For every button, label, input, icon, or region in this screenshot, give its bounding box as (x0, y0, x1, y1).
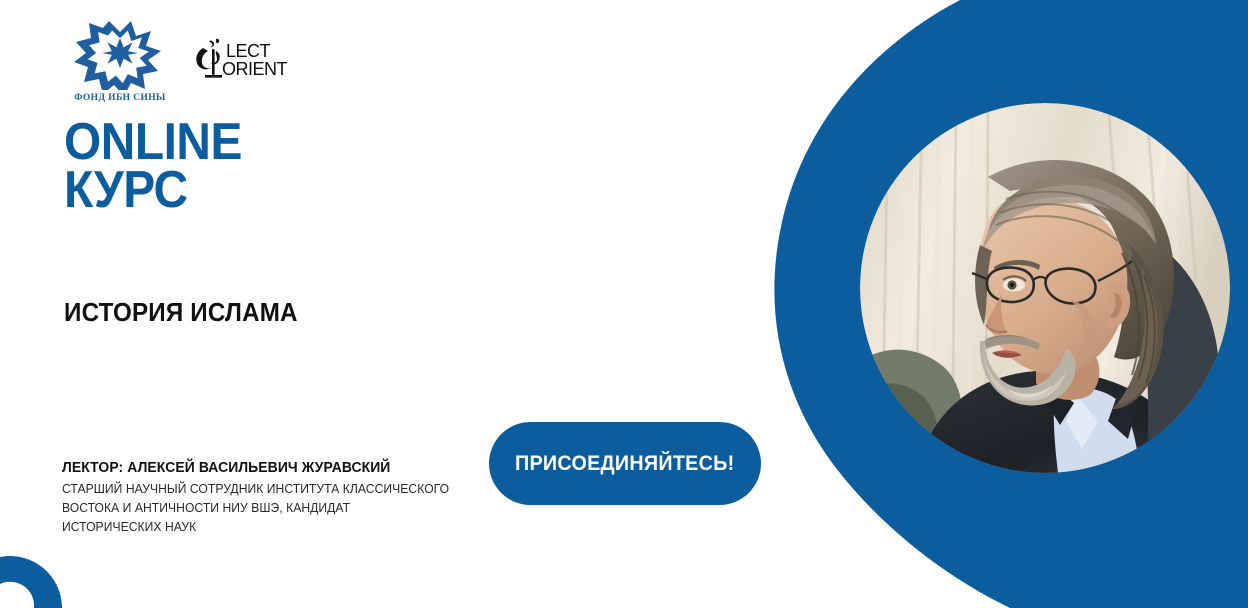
headline: ONLINE КУРС (64, 119, 242, 215)
lecturer-photo (860, 103, 1230, 473)
logo-row: ФОНД ИБН СИНЫ LECT ORIENT (66, 18, 288, 103)
lecturer-description: СТАРШИЙ НАУЧНЫЙ СОТРУДНИК ИНСТИТУТА КЛАС… (62, 480, 450, 537)
partner-logo[interactable]: LECT ORIENT (192, 32, 288, 89)
lecturer-block: ЛЕКТОР: АЛЕКСЕЙ ВАСИЛЬЕВИЧ ЖУРАВСКИЙ СТА… (62, 460, 462, 537)
partner-logo-line1: LECT (226, 41, 271, 61)
join-button-label: ПРИСОЕДИНЯЙТЕСЬ! (515, 452, 734, 476)
promo-poster: ФОНД ИБН СИНЫ LECT ORIENT ONLINE (0, 0, 1248, 608)
headline-line-2: КУРС (64, 167, 242, 215)
join-button[interactable]: ПРИСОЕДИНЯЙТЕСЬ! (489, 422, 761, 505)
lecturer-name: ЛЕКТОР: АЛЕКСЕЙ ВАСИЛЬЕВИЧ ЖУРАВСКИЙ (62, 460, 446, 476)
lect-orient-logo-icon: LECT ORIENT (192, 32, 288, 84)
lecturer-portrait-illustration (860, 103, 1230, 473)
lecturer-description-line-1: СТАРШИЙ НАУЧНЫЙ СОТРУДНИК ИНСТИТУТА КЛАС… (62, 480, 450, 499)
fund-logo[interactable]: ФОНД ИБН СИНЫ (66, 18, 174, 103)
eight-pointed-star-icon (74, 18, 166, 90)
lecturer-description-line-3: ИСТОРИЧЕСКИХ НАУК (62, 518, 450, 537)
lecturer-description-line-2: ВОСТОКА И АНТИЧНОСТИ НИУ ВШЭ, КАНДИДАТ (62, 499, 450, 518)
headline-line-1: ONLINE (64, 119, 242, 167)
course-title: ИСТОРИЯ ИСЛАМА (64, 297, 298, 328)
blue-ring-shape (0, 556, 62, 608)
partner-logo-line2: ORIENT (222, 59, 288, 79)
fund-logo-caption: ФОНД ИБН СИНЫ (74, 93, 166, 103)
